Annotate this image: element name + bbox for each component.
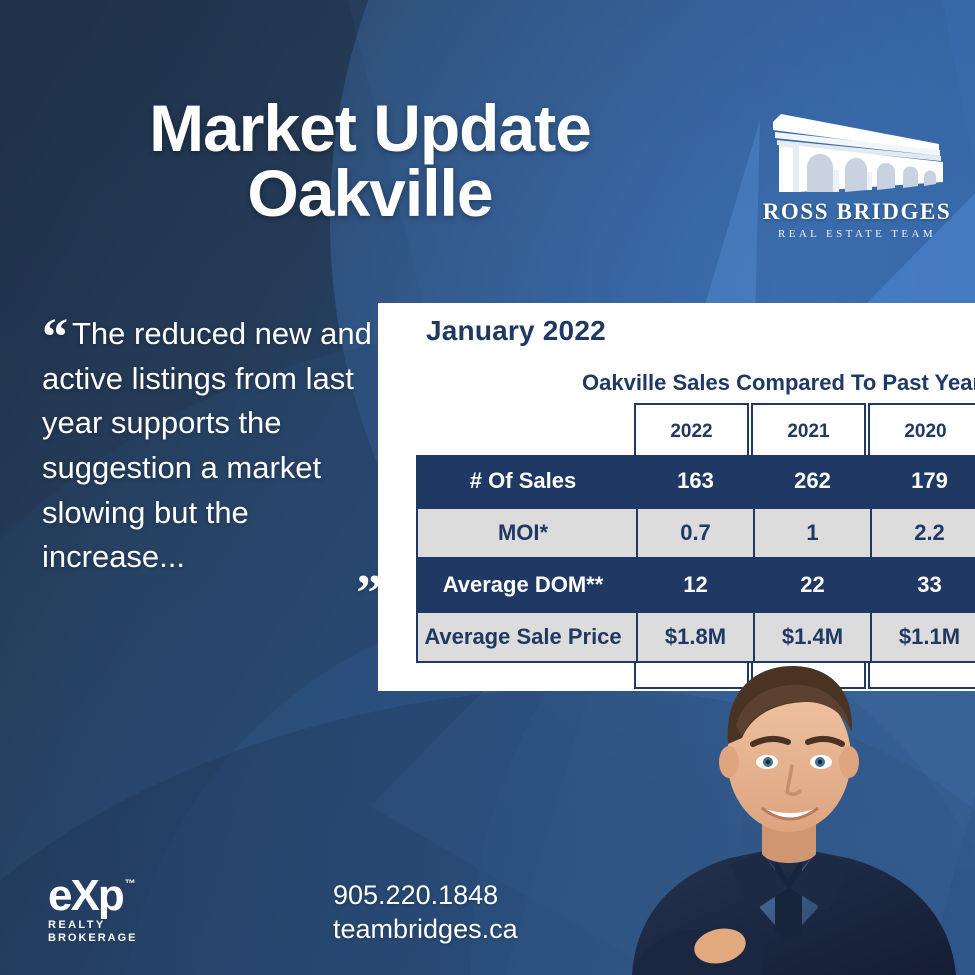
phone-number[interactable]: 905.220.1848: [333, 878, 518, 912]
panel-month-label: January 2022: [426, 315, 606, 347]
row-label: MOI*: [418, 520, 636, 546]
exp-realty-logo: eXp™ REALTY BROKERAGE: [48, 878, 178, 944]
row-cell: 33: [870, 561, 975, 609]
contact-info: 905.220.1848 teambridges.ca: [333, 878, 518, 946]
exp-brokerage-label: BROKERAGE: [48, 932, 178, 944]
row-cell: 22: [753, 561, 870, 609]
row-label: Average DOM**: [418, 572, 636, 598]
brand-tagline: REAL ESTATE TEAM: [757, 228, 957, 240]
trademark-icon: ™: [125, 880, 136, 889]
exp-wordmark: eXp™: [48, 878, 123, 913]
column-header-label: 2020: [904, 421, 946, 443]
row-cell: 0.7: [636, 509, 753, 557]
headline-line-2: Oakville: [60, 161, 680, 226]
table-row: MOI* 0.7 1 2.2: [416, 507, 975, 559]
row-cell: 1: [753, 509, 870, 557]
row-label: # Of Sales: [418, 468, 636, 494]
website-url[interactable]: teambridges.ca: [333, 912, 518, 946]
column-header-label: 2021: [787, 421, 829, 443]
quote-text: The reduced new and active listings from…: [42, 316, 372, 574]
page-title: Market Update Oakville: [60, 96, 680, 227]
row-cell: 2.2: [870, 509, 975, 557]
row-cell: 163: [636, 457, 753, 505]
row-label: Average Sale Price: [418, 624, 636, 650]
quote-text-wrap: “The reduced new and active listings fro…: [42, 312, 372, 580]
exp-realty-label: REALTY: [48, 919, 178, 931]
agent-portrait: [612, 640, 975, 975]
row-cell: 12: [636, 561, 753, 609]
table-row: # Of Sales 163 262 179: [416, 455, 975, 507]
bridge-arches-icon: [767, 100, 947, 195]
row-cell: 179: [870, 457, 975, 505]
stats-panel: January 2022 Oakville Sales Compared To …: [378, 303, 975, 691]
brand-name: ROSS BRIDGES: [757, 199, 957, 225]
market-update-graphic: Market Update Oakville ROSS BRIDGES REAL…: [0, 0, 975, 975]
quote-open-icon: “: [42, 309, 66, 366]
column-header-label: 2022: [670, 421, 712, 443]
table-row: Average DOM** 12 22 33: [416, 559, 975, 611]
quote-block: “The reduced new and active listings fro…: [42, 312, 372, 580]
headline-line-1: Market Update: [149, 91, 591, 165]
ross-bridges-logo: ROSS BRIDGES REAL ESTATE TEAM: [757, 100, 957, 240]
row-cell: 262: [753, 457, 870, 505]
table-title: Oakville Sales Compared To Past Years: [582, 370, 975, 396]
